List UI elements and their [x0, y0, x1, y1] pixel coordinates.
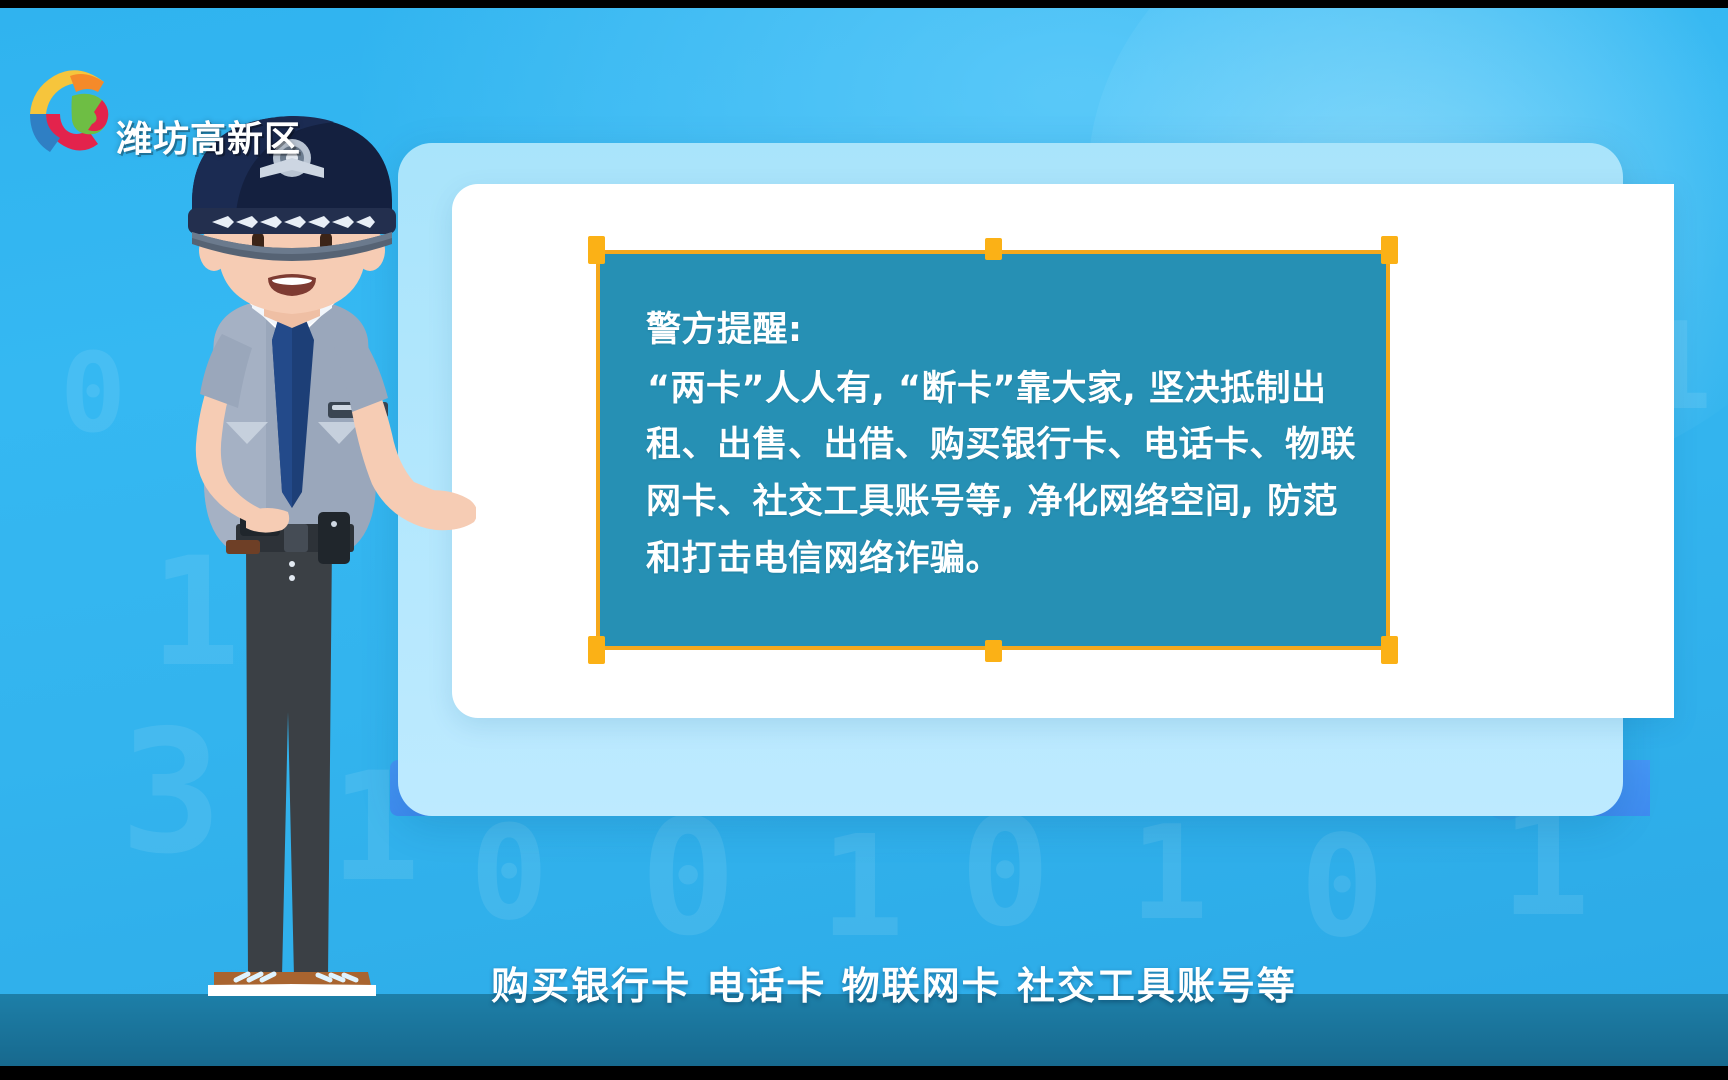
- notice-text-container: 警方提醒: “两卡”人人有, “断卡”靠大家, 坚决抵制出租、出售、出借、购买银…: [646, 302, 1356, 587]
- channel-logo: 潍坊高新区: [16, 52, 346, 167]
- corner-bracket-top-left: [588, 236, 605, 264]
- notice-body: “两卡”人人有, “断卡”靠大家, 坚决抵制出租、出售、出借、购买银行卡、电话卡…: [646, 361, 1356, 588]
- logo-text: 潍坊高新区: [116, 110, 301, 162]
- background-digit: 0: [640, 798, 736, 958]
- swirl-c-logo-icon: [16, 52, 128, 164]
- letterbox-bottom: [0, 1066, 1728, 1080]
- background-digit: 1: [1130, 808, 1208, 938]
- corner-bracket-top-right: [1381, 236, 1398, 264]
- corner-bracket-bottom-center: [985, 640, 1002, 662]
- background-digit: 0: [1300, 818, 1384, 958]
- corner-bracket-bottom-right: [1381, 636, 1398, 664]
- cartoon-police-officer: [96, 72, 476, 1012]
- background-digit: 0: [960, 798, 1050, 948]
- background-digit: 1: [820, 818, 904, 958]
- letterbox-top: [0, 0, 1728, 8]
- notice-title: 警方提醒:: [646, 302, 1356, 359]
- corner-bracket-top-center: [985, 238, 1002, 260]
- corner-bracket-bottom-left: [588, 636, 605, 664]
- video-frame: 1 3 1 0 0 1 0 1 0 1 0 1 警方提醒: “两卡”人人有, “…: [0, 0, 1728, 1080]
- background-digit: 0: [470, 808, 548, 938]
- police-notice-panel: 警方提醒: “两卡”人人有, “断卡”靠大家, 坚决抵制出租、出售、出借、购买银…: [596, 250, 1390, 650]
